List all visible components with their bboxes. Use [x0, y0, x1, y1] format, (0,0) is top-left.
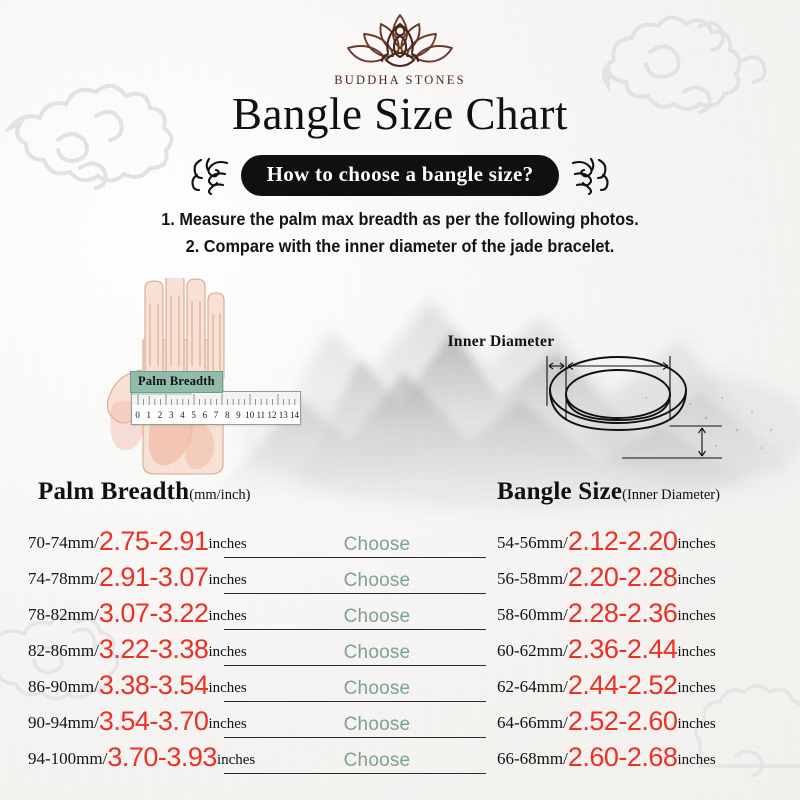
ruler-tick-3: 3	[166, 410, 177, 420]
ruler-tick-13: 13	[278, 410, 289, 420]
bangle-size-chart-page: BUDDHA STONES Bangle Size Chart How to c…	[0, 0, 800, 800]
paper-texture-overlay	[0, 0, 800, 800]
ruler-tick-12: 12	[266, 410, 277, 420]
ruler-tick-7: 7	[210, 410, 221, 420]
ruler-tick-11: 11	[255, 410, 266, 420]
palm-breadth-tag: Palm Breadth	[130, 371, 223, 393]
ruler-tick-2: 2	[154, 410, 165, 420]
ruler-tick-9: 9	[233, 410, 244, 420]
ruler-numbers: 0 1 2 3 4 5 6 7 8 9 10 11 12 13 14	[132, 405, 300, 424]
ruler-tick-5: 5	[188, 410, 199, 420]
ruler-icon: 0 1 2 3 4 5 6 7 8 9 10 11 12 13 14	[131, 391, 301, 425]
ruler-tick-6: 6	[199, 410, 210, 420]
ruler-tick-8: 8	[222, 410, 233, 420]
ruler-tick-0: 0	[132, 410, 143, 420]
ruler-tick-4: 4	[177, 410, 188, 420]
ruler-tick-10: 10	[244, 410, 255, 420]
ruler-tick-1: 1	[143, 410, 154, 420]
ruler-ticks	[132, 392, 300, 405]
ruler-tick-14: 14	[289, 410, 300, 420]
